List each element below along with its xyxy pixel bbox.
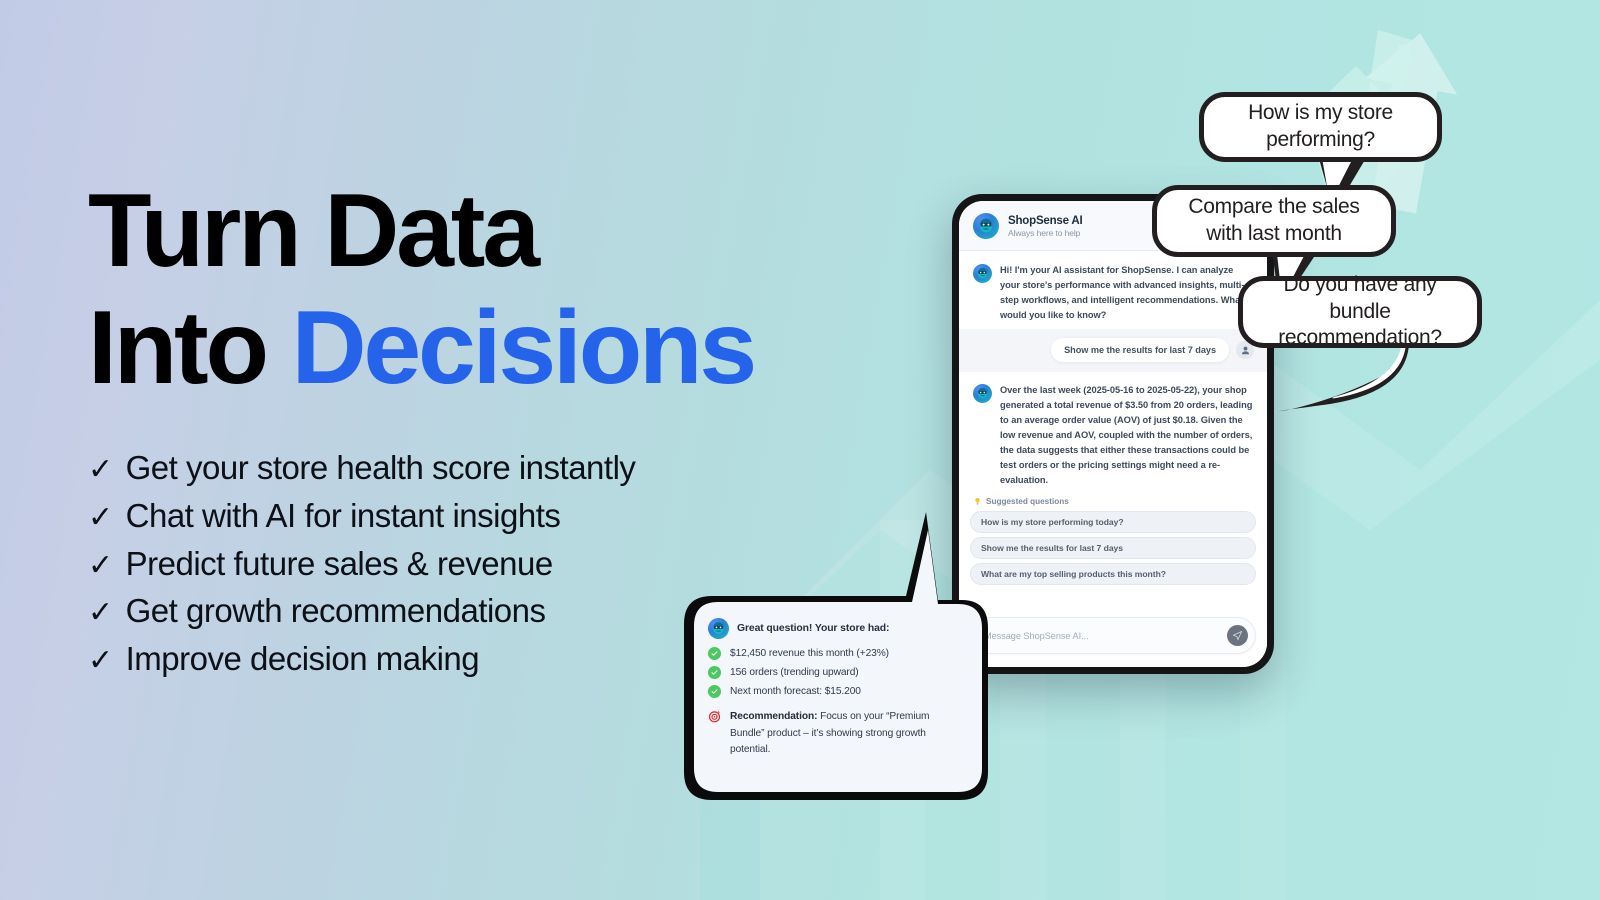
robot-face-icon [973,264,992,283]
chat-message-bot: Over the last week (2025-05-16 to 2025-0… [959,372,1267,490]
paper-plane-icon [1232,630,1243,641]
bot-subtitle: Always here to help [1008,228,1083,238]
callout-recommendation-row: Recommendation: Focus on your “Premium B… [708,709,962,759]
chat-message-text: Show me the results for last 7 days [1051,338,1229,362]
list-item-label: Improve decision making [126,635,480,683]
check-circle-icon [708,666,721,679]
bot-name: ShopSense AI [1008,215,1083,227]
speech-bubble-text: How is my store performing? [1224,100,1417,154]
message-input-wrapper[interactable]: Message ShopSense AI... [970,617,1256,654]
check-circle-icon [708,647,721,660]
callout-recommendation-text: Recommendation: Focus on your “Premium B… [730,709,962,759]
target-icon [708,710,721,723]
checkmark-icon: ✓ [88,591,113,635]
speech-bubble-text: Do you have any bundle recommendation? [1263,272,1457,353]
callout-metric-row: $12,450 revenue this month (+23%) [708,647,962,660]
headline-line-2-plain: Into [88,290,291,406]
checkmark-icon: ✓ [88,639,113,683]
page-title: Turn Data Into Decisions [88,180,848,400]
checkmark-icon: ✓ [88,544,113,588]
headline-line-2-accent: Decisions [291,290,754,406]
robot-face-icon [973,213,999,239]
list-item: ✓ Get your store health score instantly [88,444,848,492]
callout-metric-text: 156 orders (trending upward) [730,667,859,678]
callout-heading: Great question! Your store had: [737,623,889,634]
suggested-question-chip[interactable]: Show me the results for last 7 days [970,537,1256,559]
callout-recommendation-label: Recommendation: [730,711,817,722]
phone-mockup: ShopSense AI Always here to help [952,194,1274,674]
callout-content: Great question! Your store had: $12,450 … [708,618,962,759]
suggested-question-chip[interactable]: What are my top selling products this mo… [970,563,1256,585]
callout-metric-row: 156 orders (trending upward) [708,666,962,679]
check-circle-icon [708,685,721,698]
checkmark-icon: ✓ [88,496,113,540]
callout-metric-text: Next month forecast: $15.200 [730,686,861,697]
robot-face-icon [708,618,729,639]
suggested-questions-section: Suggested questions How is my store perf… [959,491,1267,585]
suggested-questions-header: Suggested questions [970,494,1256,511]
speech-bubble-text: Compare the sales with last month [1177,194,1371,248]
callout-metric-row: Next month forecast: $15.200 [708,685,962,698]
list-item-label: Get your store health score instantly [126,444,636,492]
message-input[interactable]: Message ShopSense AI... [984,631,1221,641]
list-item-label: Chat with AI for instant insights [126,492,561,540]
callout-metric-text: $12,450 revenue this month (+23%) [730,648,889,659]
chat-message-text: Over the last week (2025-05-16 to 2025-0… [1000,383,1253,488]
speech-bubble-store-performing: How is my store performing? [1199,92,1442,162]
list-item-label: Get growth recommendations [126,587,546,635]
suggested-questions-label: Suggested questions [986,497,1069,506]
speech-bubble-compare-sales: Compare the sales with last month [1152,185,1396,257]
chat-app-screen: ShopSense AI Always here to help [959,201,1267,667]
speech-bubble-bundle-recommendation: Do you have any bundle recommendation? [1238,276,1482,348]
checkmark-icon: ✓ [88,448,113,492]
chat-message-text: Hi! I'm your AI assistant for ShopSense.… [1000,263,1253,323]
send-button[interactable] [1227,625,1248,646]
robot-face-icon [973,384,992,403]
chat-message-list[interactable]: Hi! I'm your AI assistant for ShopSense.… [959,251,1267,608]
headline-line-1: Turn Data [88,173,537,289]
insights-callout-card: Great question! Your store had: $12,450 … [684,592,980,792]
callout-header: Great question! Your store had: [708,618,962,639]
list-item-label: Predict future sales & revenue [126,540,553,588]
suggested-question-chip[interactable]: How is my store performing today? [970,511,1256,533]
chat-message-bot: Hi! I'm your AI assistant for ShopSense.… [959,251,1267,329]
message-composer: Message ShopSense AI... [959,608,1267,667]
chat-message-user: Show me the results for last 7 days [959,329,1267,372]
